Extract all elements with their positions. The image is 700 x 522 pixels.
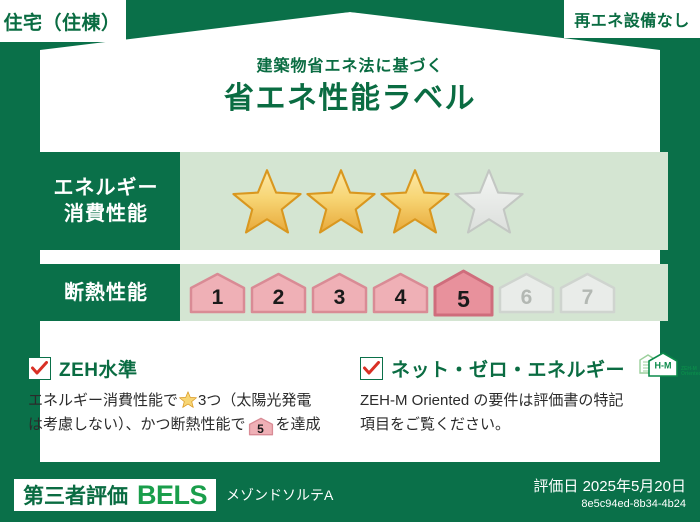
document-id: 8e5c94ed-8b34-4b24 xyxy=(533,497,686,511)
grade-number: 4 xyxy=(395,286,407,315)
energy-performance-row: エネルギー 消費性能 xyxy=(32,152,668,250)
badge-building-type-label: 住宅（住棟） xyxy=(3,8,120,35)
star-filled-icon xyxy=(380,167,450,235)
zeh-body-part3: を達成 xyxy=(276,416,321,433)
zeh-body-star-count: 3つ（太陽光発電 xyxy=(198,392,311,409)
bels-plate: 第三者評価 BELS xyxy=(14,479,216,511)
energy-label-line1: エネルギー xyxy=(54,175,159,201)
zeh-m-oriented-logo-icon: H-M ZEH-M Oriented xyxy=(639,351,700,386)
checkmark-icon xyxy=(28,357,51,380)
net-zero-energy-body: ZEH-M Oriented の要件は評価書の特記 項目をご覧ください。 xyxy=(360,389,680,438)
svg-text:Oriented: Oriented xyxy=(681,371,700,377)
net-zero-energy-section: ネット・ゼロ・エネルギー H-M ZEH-M Oriented xyxy=(360,355,680,438)
grade-badge: 4 xyxy=(371,271,430,315)
net-zero-body-line1: ZEH-M Oriented の要件は評価書の特記 xyxy=(360,392,623,409)
star-empty-icon xyxy=(454,167,524,235)
title-main: 省エネ性能ラベル xyxy=(0,79,700,120)
grade-number: 1 xyxy=(212,286,224,315)
net-zero-energy-title: ネット・ゼロ・エネルギー xyxy=(391,355,625,382)
page-title: 建築物省エネ法に基づく 省エネ性能ラベル xyxy=(0,57,700,120)
insulation-grade-scale: 1 2 3 4 5 6 xyxy=(180,264,668,321)
title-subtitle: 建築物省エネ法に基づく xyxy=(0,57,700,76)
star-filled-icon xyxy=(232,167,302,235)
star-rating xyxy=(180,152,668,250)
grade-number: 5 xyxy=(457,286,470,318)
grade-number: 6 xyxy=(521,286,533,315)
zeh-body-part2: は考慮しない）、かつ断熱性能で xyxy=(28,416,246,433)
grade-badge-inactive: 7 xyxy=(558,271,617,315)
grade-badge: 3 xyxy=(310,271,369,315)
grade-badge-active: 5 xyxy=(432,268,495,318)
grade-number: 3 xyxy=(334,286,346,315)
building-name: メゾンドソルテA xyxy=(226,485,333,505)
badge-renewable-label: 再エネ設備なし xyxy=(574,7,690,31)
insulation-performance-row: 断熱性能 1 2 3 4 5 xyxy=(32,264,668,321)
badge-renewable-equipment: 再エネ設備なし xyxy=(564,0,700,38)
net-zero-energy-heading: ネット・ゼロ・エネルギー H-M ZEH-M Oriented xyxy=(360,355,680,381)
zeh-body-part1: エネルギー消費性能で xyxy=(28,392,178,409)
bels-prefix-label: 第三者評価 xyxy=(23,480,128,510)
badge-building-type: 住宅（住棟） xyxy=(0,0,126,42)
zeh-standard-heading: ZEH水準 xyxy=(28,355,344,381)
energy-performance-label-block: エネルギー 消費性能 xyxy=(32,152,180,250)
energy-performance-label: 住宅（住棟） 再エネ設備なし 建築物省エネ法に基づく 省エネ性能ラベル エネルギ… xyxy=(0,0,700,522)
footer-meta: 評価日 2025年5月20日 8e5c94ed-8b34-4b24 xyxy=(533,478,686,511)
star-filled-icon xyxy=(306,167,376,235)
inline-star-icon xyxy=(179,391,197,408)
grade-badge-inactive: 6 xyxy=(497,271,556,315)
zeh-standard-body: エネルギー消費性能で3つ（太陽光発電 は考慮しない）、かつ断熱性能で5を達成 xyxy=(28,389,344,438)
net-zero-body-line2: 項目をご覧ください。 xyxy=(360,416,510,433)
grade-badge: 1 xyxy=(188,271,247,315)
evaluation-date: 評価日 2025年5月20日 xyxy=(533,478,686,497)
energy-label-line2: 消費性能 xyxy=(64,201,148,227)
zeh-standard-section: ZEH水準 エネルギー消費性能で3つ（太陽光発電 は考慮しない）、かつ断熱性能で… xyxy=(28,355,344,438)
checkmark-icon xyxy=(360,357,383,380)
grade-badge: 2 xyxy=(249,271,308,315)
insulation-label-line1: 断熱性能 xyxy=(64,280,148,306)
inline-grade-number: 5 xyxy=(248,417,274,441)
bels-logo-text: BELS xyxy=(137,480,207,511)
grade-number: 7 xyxy=(582,286,594,315)
footer-bar: 第三者評価 BELS メゾンドソルテA 評価日 2025年5月20日 8e5c9… xyxy=(0,468,700,522)
svg-text:H-M: H-M xyxy=(655,360,672,370)
inline-grade-badge: 5 xyxy=(248,417,274,436)
grade-number: 2 xyxy=(273,286,285,315)
insulation-performance-label-block: 断熱性能 xyxy=(32,264,180,321)
zeh-standard-title: ZEH水準 xyxy=(59,355,138,382)
